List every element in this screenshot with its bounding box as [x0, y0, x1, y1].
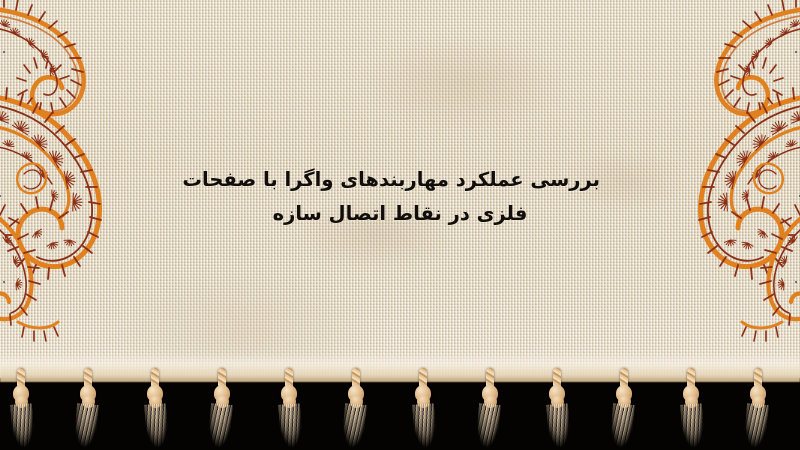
tassel-strands: [278, 403, 303, 448]
tassel: [343, 368, 369, 450]
tassel: [544, 368, 570, 450]
tassel: [8, 368, 34, 450]
tassel-strands: [743, 403, 769, 449]
slide-title: بررسی عملکرد مهاربندهای واگرا با صفحات ف…: [200, 164, 600, 230]
tassel: [276, 368, 302, 450]
tassel-strands: [412, 403, 437, 448]
tassel-strands: [341, 403, 367, 449]
tassel: [142, 368, 168, 450]
slide-canvas: بررسی عملکرد مهاربندهای واگرا با صفحات ف…: [0, 0, 800, 450]
tassel-strands: [207, 403, 233, 449]
tassel-strands: [475, 403, 501, 449]
tassel: [410, 368, 436, 450]
tassel-fringe: [0, 368, 800, 450]
title-line-2: فلزی در نقاط اتصال سازه: [200, 198, 600, 230]
tassel-strands: [680, 403, 705, 448]
tassel: [611, 368, 637, 450]
tassel: [75, 368, 101, 450]
tassel-strands: [609, 403, 635, 449]
tassel: [209, 368, 235, 450]
tassel-strands: [144, 403, 169, 448]
tassel-strands: [10, 403, 35, 448]
tassel-strands: [73, 403, 99, 449]
tassel: [678, 368, 704, 450]
tassel-strands: [546, 403, 571, 448]
tassel: [745, 368, 771, 450]
title-line-1: بررسی عملکرد مهاربندهای واگرا با صفحات: [200, 164, 600, 196]
tassel: [477, 368, 503, 450]
